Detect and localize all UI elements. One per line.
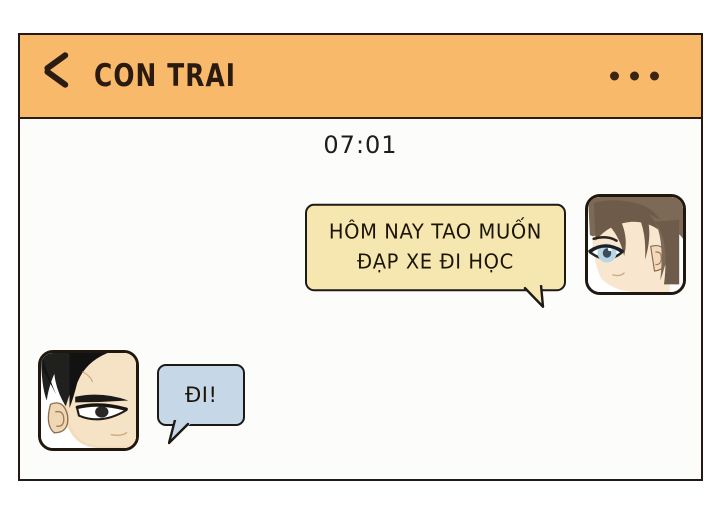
back-chevron-icon[interactable] bbox=[42, 57, 72, 95]
page-title: CON TRAI bbox=[94, 58, 236, 93]
message-bubble-incoming[interactable]: ĐI! bbox=[157, 364, 245, 426]
more-dot bbox=[630, 72, 639, 81]
message-text-line: ĐI! bbox=[185, 383, 217, 407]
avatar-black-hair-man[interactable] bbox=[38, 350, 139, 451]
more-options-icon[interactable] bbox=[610, 72, 659, 81]
comic-chat-panel: CON TRAI 07:01 HÔM NAY TAO MUỐN ĐẠP XE Đ… bbox=[18, 33, 703, 481]
avatar-brown-hair-boy[interactable] bbox=[585, 194, 686, 295]
message-bubble-outgoing[interactable]: HÔM NAY TAO MUỐN ĐẠP XE ĐI HỌC bbox=[305, 204, 566, 292]
more-dot bbox=[610, 72, 619, 81]
chat-header: CON TRAI bbox=[20, 35, 701, 119]
message-text-line: HÔM NAY TAO MUỐN bbox=[329, 217, 542, 247]
bubble-tail-icon bbox=[521, 285, 547, 310]
message-text-line: ĐẠP XE ĐI HỌC bbox=[329, 247, 542, 277]
bubble-tail-icon bbox=[168, 420, 195, 445]
message-row-incoming: ĐI! bbox=[38, 350, 245, 451]
chat-message-list: 07:01 HÔM NAY TAO MUỐN ĐẠP XE ĐI HỌC bbox=[20, 119, 701, 479]
more-dot bbox=[650, 72, 659, 81]
message-row-outgoing: HÔM NAY TAO MUỐN ĐẠP XE ĐI HỌC bbox=[305, 194, 686, 295]
conversation-timestamp: 07:01 bbox=[20, 131, 701, 159]
